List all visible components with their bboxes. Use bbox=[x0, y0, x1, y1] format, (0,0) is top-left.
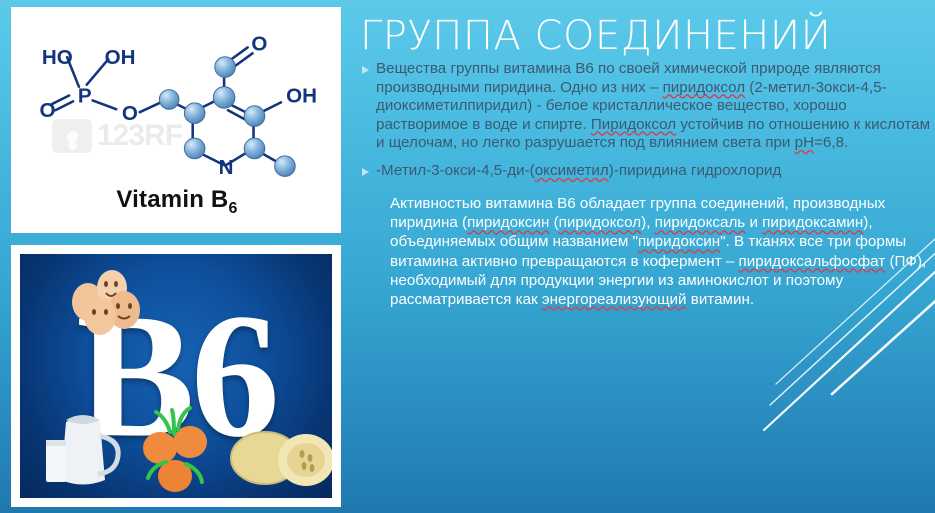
melon-icon bbox=[231, 432, 332, 486]
structure-image-frame: HO OH P O O O OH N 123RF Vitamin B6 bbox=[11, 7, 341, 233]
atom-label-oh-left: OH bbox=[105, 46, 136, 69]
structure-caption: Vitamin B6 bbox=[22, 186, 332, 218]
watermark-text: 123RF bbox=[97, 119, 182, 153]
triangle-bullet-icon bbox=[362, 66, 369, 74]
vitamin-b6-chemical-structure: HO OH P O O O OH N 123RF Vitamin B6 bbox=[22, 18, 332, 224]
watermark-123rf: 123RF bbox=[52, 114, 232, 158]
list-item: -Метил-3-окси-4,5-ди-(оксиметил)-пиридин… bbox=[362, 162, 935, 181]
atom-label-n: N bbox=[219, 156, 234, 179]
vitamin-b6-food-sources: B6 bbox=[20, 254, 332, 498]
summary-paragraph: Активностью витамина B6 обладает группа … bbox=[362, 194, 935, 308]
bullet-list: Вещества группы витамина B6 по своей хим… bbox=[356, 60, 935, 309]
structure-caption-text: Vitamin B bbox=[116, 186, 228, 213]
bullet-text-1: Вещества группы витамина B6 по своей хим… bbox=[376, 60, 935, 153]
bullet-text-2: -Метил-3-окси-4,5-ди-(оксиметил)-пиридин… bbox=[376, 162, 935, 181]
page-title: ГРУППА СОЕДИНЕНИЙ bbox=[356, 0, 935, 60]
structure-caption-subscript: 6 bbox=[228, 200, 237, 217]
watermark-photo-icon bbox=[52, 119, 92, 153]
eggs-icon bbox=[72, 270, 140, 335]
atom-label-p: P bbox=[78, 84, 92, 107]
atom-label-oh-right: OH bbox=[286, 84, 317, 107]
food-illustrations bbox=[20, 254, 332, 498]
triangle-bullet-icon bbox=[362, 168, 369, 176]
list-item: Вещества группы витамина B6 по своей хим… bbox=[362, 60, 935, 153]
milk-icon bbox=[46, 415, 118, 485]
atom-label-ho: HO bbox=[42, 46, 73, 69]
foods-image-frame: B6 bbox=[11, 245, 341, 507]
atom-label-o-aldehyde: O bbox=[251, 32, 267, 55]
vegetables-icon bbox=[143, 408, 207, 492]
slide-content: ГРУППА СОЕДИНЕНИЙ Вещества группы витами… bbox=[356, 0, 935, 513]
